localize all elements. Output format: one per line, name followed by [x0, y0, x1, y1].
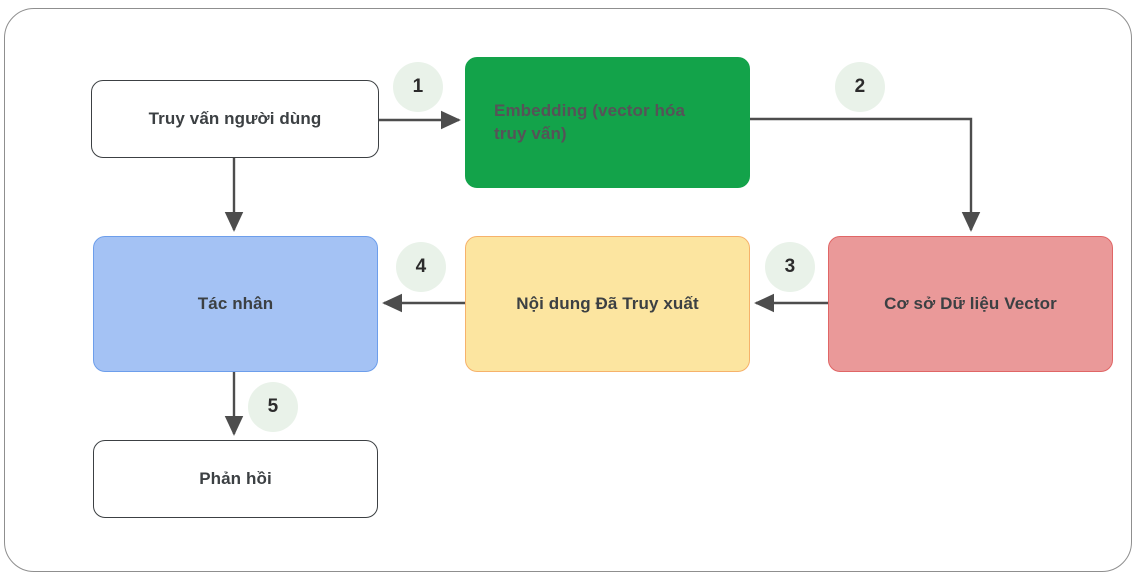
node-agent-label: Tác nhân	[188, 293, 283, 315]
node-vector-database[interactable]: Cơ sở Dữ liệu Vector	[828, 236, 1113, 372]
step-badge-3: 3	[765, 242, 815, 292]
step-badge-3-label: 3	[785, 256, 796, 278]
node-embedding-label: Embedding (vector hóa truy vấn)	[466, 100, 725, 144]
node-vector-database-label: Cơ sở Dữ liệu Vector	[874, 293, 1067, 315]
step-badge-4-label: 4	[416, 256, 427, 278]
step-badge-2: 2	[835, 62, 885, 112]
node-agent[interactable]: Tác nhân	[93, 236, 378, 372]
node-retrieved-content-label: Nội dung Đã Truy xuất	[506, 293, 709, 315]
step-badge-2-label: 2	[855, 76, 866, 98]
node-user-query-label: Truy vấn người dùng	[139, 108, 332, 130]
step-badge-1-label: 1	[413, 76, 424, 98]
node-user-query[interactable]: Truy vấn người dùng	[91, 80, 379, 158]
step-badge-4: 4	[396, 242, 446, 292]
step-badge-5: 5	[248, 382, 298, 432]
node-embedding[interactable]: Embedding (vector hóa truy vấn)	[465, 57, 750, 188]
node-response-label: Phản hồi	[189, 468, 282, 490]
node-retrieved-content[interactable]: Nội dung Đã Truy xuất	[465, 236, 750, 372]
diagram-canvas: Truy vấn người dùng Embedding (vector hó…	[0, 0, 1140, 584]
step-badge-1: 1	[393, 62, 443, 112]
step-badge-5-label: 5	[268, 396, 279, 418]
node-response[interactable]: Phản hồi	[93, 440, 378, 518]
